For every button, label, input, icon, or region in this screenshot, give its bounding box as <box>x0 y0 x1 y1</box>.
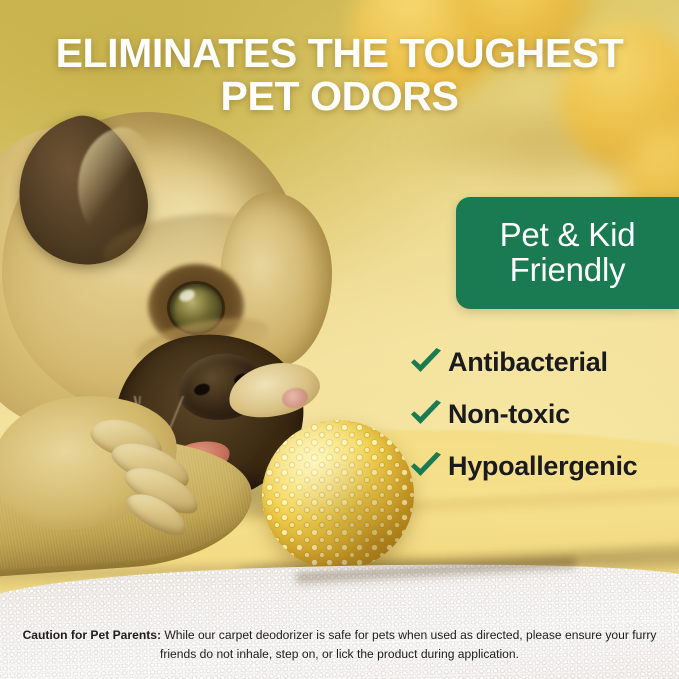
caution-note: Caution for Pet Parents: While our carpe… <box>0 626 679 664</box>
check-icon <box>408 399 448 429</box>
caution-label: Caution for Pet Parents: <box>23 628 161 642</box>
ball-shading <box>262 420 414 570</box>
check-icon <box>408 347 448 377</box>
feature-item-antibacterial: Antibacterial <box>408 336 679 388</box>
feature-item-hypoallergenic: Hypoallergenic <box>408 440 679 492</box>
feature-label: Antibacterial <box>448 347 608 378</box>
headline-line-1: ELIMINATES THE TOUGHEST <box>22 32 657 75</box>
check-icon <box>408 451 448 481</box>
feature-label: Non-toxic <box>448 399 570 430</box>
feature-list: Antibacterial Non-toxic Hypoallergenic <box>408 336 679 492</box>
feature-item-non-toxic: Non-toxic <box>408 388 679 440</box>
headline-line-2: PET ODORS <box>22 75 657 118</box>
product-infographic: ELIMINATES THE TOUGHEST PET ODORS Pet & … <box>0 0 679 679</box>
page-title: ELIMINATES THE TOUGHEST PET ODORS <box>0 32 679 119</box>
pet-kid-friendly-badge: Pet & Kid Friendly <box>456 197 679 309</box>
feature-label: Hypoallergenic <box>448 451 637 482</box>
badge-line-2: Friendly <box>510 253 626 288</box>
caution-text: While our carpet deodorizer is safe for … <box>160 628 656 661</box>
spiky-ball-toy <box>262 420 414 570</box>
badge-line-1: Pet & Kid <box>500 218 636 253</box>
